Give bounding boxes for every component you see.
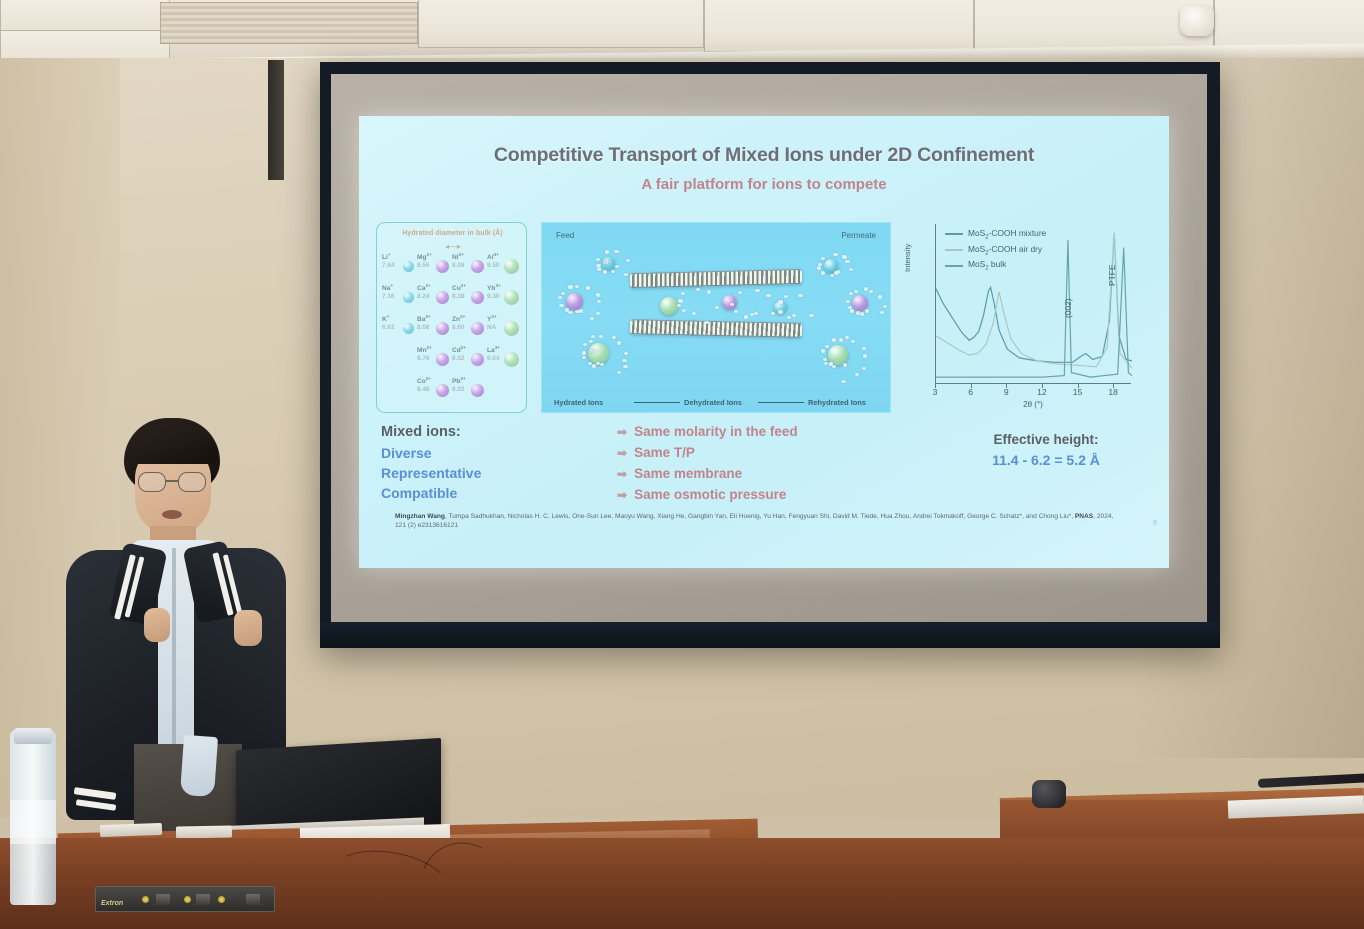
citation: Mingzhan Wang, Tumpa Sadhukhan, Nicholas… — [395, 512, 1115, 531]
extron-button[interactable] — [196, 894, 210, 905]
ion-symbol: Ba2+ — [417, 314, 431, 323]
legend-color-swatch — [945, 233, 963, 235]
xrd-annotation-ptfe: PTFE — [1107, 265, 1117, 286]
ion-symbol: Co2+ — [417, 376, 431, 385]
ion-cell-ba: Ba2+8.08 — [417, 313, 451, 343]
bullet-label: Same T/P — [634, 445, 695, 460]
water-molecule — [575, 310, 579, 313]
water-molecule — [596, 258, 600, 261]
feed-ion-green: M³⁺ — [588, 343, 609, 364]
legend-label: MoS2-COOH air dry — [968, 244, 1042, 257]
extron-led-indicator — [142, 896, 149, 903]
x-tick-label: 18 — [1108, 387, 1118, 397]
ion-symbol: Mg2+ — [417, 252, 432, 261]
glasses-bridge — [166, 480, 178, 482]
bullet-label: Same membrane — [634, 466, 742, 481]
ion-cell-ca: Ca2+8.24 — [417, 282, 451, 312]
water-molecule — [568, 285, 572, 288]
smoke-detector-icon — [1180, 6, 1214, 36]
water-molecule — [841, 380, 845, 383]
legend-label: MoS2 bulk — [968, 259, 1006, 272]
ion-diameter-value: 8.24 — [417, 293, 429, 300]
water-molecule — [821, 271, 825, 274]
presenter-right-hand — [234, 610, 262, 646]
ion-sphere-icon — [471, 260, 484, 273]
ion-diameter-value: 8.38 — [452, 293, 464, 300]
water-molecule — [626, 259, 630, 262]
ion-cell-ni: Ni2+8.08 — [452, 251, 486, 281]
ceiling-air-vent — [160, 2, 418, 44]
ion-symbol: Zn2+ — [452, 314, 465, 323]
ion-symbol: Al3+ — [487, 252, 499, 261]
water-molecule — [597, 267, 601, 270]
water-molecule — [850, 309, 854, 312]
water-molecule — [849, 268, 853, 271]
ion-cell-k: K+6.62 — [382, 313, 416, 343]
water-bottle-cap — [14, 728, 52, 744]
ion-sphere-icon — [436, 384, 449, 397]
ion-sphere-icon — [436, 291, 449, 304]
water-molecule — [821, 349, 825, 352]
water-molecule — [878, 295, 882, 298]
ion-diameter-value: 9.50 — [487, 262, 499, 269]
water-molecule — [755, 289, 759, 292]
water-molecule — [592, 364, 596, 367]
ion-diameter-value: 8.52 — [452, 355, 464, 362]
ion-sphere-icon — [436, 353, 449, 366]
transport-schematic: Feed Permeate M⁺ M³⁺ Hydrated Ions Dehyd… — [541, 222, 891, 413]
mixed-ions-item-diverse: Diverse — [381, 445, 432, 461]
ion-diameter-value: 9.04 — [487, 355, 499, 362]
ion-symbol: La3+ — [487, 345, 500, 354]
water-molecule — [611, 270, 615, 273]
ion-panel-title: Hydrated diameter in bulk (Å) — [377, 230, 528, 237]
water-molecule — [845, 336, 849, 339]
ion-diameter-value: 8.60 — [452, 324, 464, 331]
lecture-room-scene: Competitive Transport of Mixed Ions unde… — [0, 0, 1364, 929]
water-molecule — [596, 264, 600, 267]
ion-row: Na+7.16Ca2+8.24Cu2+8.38Yb3+9.30 — [382, 282, 523, 312]
ion-sphere-icon — [504, 352, 519, 367]
slide-title: Competitive Transport of Mixed Ions unde… — [359, 144, 1169, 167]
water-molecule — [754, 312, 758, 315]
water-molecule — [823, 358, 827, 361]
ceiling-tile — [704, 0, 974, 52]
membrane-top-layer — [630, 269, 802, 288]
water-bottle-label — [10, 800, 56, 844]
water-molecule — [583, 343, 587, 346]
water-molecule — [617, 371, 621, 374]
presenter-mouth — [162, 510, 182, 519]
extron-av-controller[interactable]: Extron — [95, 886, 275, 912]
water-molecule — [856, 311, 860, 314]
water-molecule — [787, 316, 791, 319]
water-molecule — [784, 295, 788, 298]
water-molecule — [677, 304, 681, 307]
ion-cell-co: Co2+8.48 — [417, 375, 451, 405]
x-tick-label: 6 — [968, 387, 973, 397]
ion-symbol: Cu2+ — [452, 283, 466, 292]
extron-button[interactable] — [246, 894, 260, 905]
ion-cell-cu: Cu2+8.38 — [452, 282, 486, 312]
ion-row: Mn2+8.76Cd2+8.52La3+9.04 — [382, 344, 523, 374]
size-arrow-icon: ◂—▸ — [432, 243, 474, 251]
bullet-label: Same osmotic pressure — [634, 487, 786, 502]
mixed-ions-item-compatible: Compatible — [381, 485, 457, 501]
water-molecule — [617, 341, 621, 344]
bullet-item-molarity: ➡Same molarity in the feed — [617, 424, 798, 439]
water-molecule — [612, 336, 616, 339]
ion-tag: M³⁺ — [590, 349, 598, 355]
water-molecule — [589, 340, 593, 343]
ion-cell-mn: Mn2+8.76 — [417, 344, 451, 374]
ion-symbol: Cd2+ — [452, 345, 466, 354]
x-tick-label: 3 — [933, 387, 938, 397]
ion-symbol: Pb2+ — [452, 376, 466, 385]
ion-sphere-icon — [504, 259, 519, 274]
wall-pillar — [268, 60, 284, 180]
ion-sphere-icon — [403, 292, 414, 303]
ion-cell-y: Y3+NA — [487, 313, 521, 343]
legend-label: MoS2-COOH mixture — [968, 228, 1046, 241]
water-molecule — [750, 313, 754, 316]
presentation-slide: Competitive Transport of Mixed Ions unde… — [359, 116, 1169, 568]
water-molecule — [692, 312, 696, 315]
water-molecule — [599, 335, 603, 338]
water-molecule — [568, 311, 572, 314]
water-molecule — [817, 266, 821, 269]
bullet-arrow-icon: ➡ — [617, 425, 627, 439]
water-molecule — [603, 270, 607, 273]
ion-symbol: Na+ — [382, 283, 393, 292]
water-molecule — [825, 345, 829, 348]
ion-diameter-value: NA — [487, 324, 496, 331]
table-microphone — [1032, 780, 1066, 808]
ion-sphere-icon — [504, 321, 519, 336]
water-molecule — [855, 373, 859, 376]
xrd-annotation-002: (002) — [1063, 298, 1073, 318]
ion-symbol: Mn2+ — [417, 345, 432, 354]
ion-sphere-icon — [471, 384, 484, 397]
water-molecule — [851, 340, 855, 343]
xrd-x-axis-label: 2θ (°) — [935, 400, 1131, 409]
water-molecule — [846, 300, 850, 303]
x-tick-label: 15 — [1073, 387, 1083, 397]
ion-symbol: K+ — [382, 314, 389, 323]
extron-led-indicator — [184, 896, 191, 903]
ion-cell-al: Al3+9.50 — [487, 251, 521, 281]
presenter-hair-front — [128, 432, 218, 464]
ion-cell-li: Li+7.64 — [382, 251, 416, 281]
water-molecule — [586, 286, 590, 289]
ceiling-tile — [0, 0, 170, 32]
water-molecule — [834, 271, 838, 274]
ion-sphere-icon — [471, 291, 484, 304]
dehydrated-ion-purple — [722, 295, 737, 310]
water-molecule — [590, 317, 594, 320]
water-molecule — [579, 309, 583, 312]
ion-diameter-value: 8.08 — [452, 262, 464, 269]
effective-height-value: 11.4 - 6.2 = 5.2 Å — [956, 452, 1136, 468]
water-molecule — [597, 300, 601, 303]
water-molecule — [596, 312, 600, 315]
x-tick-label: 12 — [1037, 387, 1047, 397]
x-tick-label: 9 — [1004, 387, 1009, 397]
water-molecule — [818, 263, 822, 266]
ion-sphere-icon — [436, 322, 449, 335]
water-molecule — [864, 287, 868, 290]
ion-cell-na: Na+7.16 — [382, 282, 416, 312]
ion-symbol: Ni2+ — [452, 252, 464, 261]
slide-subtitle: A fair platform for ions to compete — [359, 176, 1169, 193]
shirt-tail — [180, 735, 218, 797]
water-molecule — [559, 304, 563, 307]
water-molecule — [734, 310, 738, 313]
water-molecule — [558, 296, 562, 299]
hydrated-ions-label: Hydrated Ions — [554, 398, 603, 407]
ion-cell-la: La3+9.04 — [487, 344, 521, 374]
water-molecule — [738, 291, 742, 294]
ion-diameter-value: 8.08 — [417, 324, 429, 331]
water-molecule — [591, 335, 595, 338]
extron-button[interactable] — [156, 894, 170, 905]
mixed-ions-item-representative: Representative — [381, 465, 481, 481]
bullet-item-tp: ➡Same T/P — [617, 445, 695, 460]
ion-diameter-value: 8.48 — [417, 386, 429, 393]
legend-color-swatch — [945, 249, 963, 251]
water-molecule — [839, 338, 843, 341]
water-molecule — [614, 250, 618, 253]
ion-diameter-value: 8.02 — [452, 386, 464, 393]
mixed-ions-heading: Mixed ions: — [381, 424, 461, 440]
glasses-left-lens — [138, 472, 166, 492]
water-molecule — [624, 352, 628, 355]
water-molecule — [622, 359, 626, 362]
water-molecule — [778, 310, 782, 313]
ion-tag: M⁺ — [604, 260, 611, 266]
water-molecule — [862, 347, 866, 350]
water-molecule — [809, 314, 813, 317]
feed-ion-blue: M⁺ — [602, 257, 615, 270]
water-molecule — [830, 274, 834, 277]
ion-cell-yb: Yb3+9.30 — [487, 282, 521, 312]
water-molecule — [829, 362, 833, 365]
ion-sphere-icon — [403, 323, 414, 334]
water-molecule — [843, 363, 847, 366]
water-molecule — [681, 292, 685, 295]
dehydrated-ion-green — [660, 297, 678, 315]
desk-remote-clicker — [176, 826, 232, 839]
water-molecule — [678, 299, 682, 302]
schematic-connector-line — [634, 402, 680, 403]
ion-sphere-icon — [471, 353, 484, 366]
projection-screen-bottom-bar — [320, 622, 1220, 648]
water-molecule — [832, 338, 836, 341]
ion-cell-mg: Mg2+8.56 — [417, 251, 451, 281]
extron-led-indicator — [218, 896, 225, 903]
bullet-arrow-icon: ➡ — [617, 488, 627, 502]
water-molecule — [696, 288, 700, 291]
ion-row: Co2+8.48Pb2+8.02 — [382, 375, 523, 405]
hydrated-diameter-panel: Hydrated diameter in bulk (Å) ◂—▸ Li+7.6… — [376, 222, 527, 413]
rehydrated-ions-label: Rehydrated Ions — [808, 398, 866, 407]
water-molecule — [880, 311, 884, 314]
water-molecule — [766, 294, 770, 297]
glasses-right-lens — [178, 472, 206, 492]
ion-diameter-value: 7.16 — [382, 293, 394, 300]
water-molecule — [792, 314, 796, 317]
water-molecule — [833, 253, 837, 256]
water-molecule — [624, 273, 628, 276]
water-molecule — [707, 290, 711, 293]
water-molecule — [863, 354, 867, 357]
xrd-chart: Intensity MoS2-COOH mixtureMoS2-COOH air… — [905, 222, 1133, 413]
feed-label: Feed — [556, 231, 574, 240]
ion-cell-zn: Zn2+8.60 — [452, 313, 486, 343]
ion-cell-cd: Cd2+8.52 — [452, 344, 486, 374]
water-molecule — [744, 315, 748, 318]
ion-diameter-value: 6.62 — [382, 324, 394, 331]
water-molecule — [865, 309, 869, 312]
ion-sphere-icon — [403, 261, 414, 272]
schematic-connector-line — [758, 402, 804, 403]
water-molecule — [575, 285, 579, 288]
ion-sphere-icon — [436, 260, 449, 273]
water-molecule — [860, 312, 864, 315]
desk-small-item — [100, 823, 162, 837]
ion-sphere-icon — [504, 290, 519, 305]
water-molecule — [869, 290, 873, 293]
ion-grid: Li+7.64Mg2+8.56Ni2+8.08Al3+9.50Na+7.16Ca… — [382, 251, 523, 409]
water-molecule — [778, 300, 782, 303]
water-molecule — [854, 290, 858, 293]
ceiling-tile — [418, 0, 704, 48]
ion-symbol: Y3+ — [487, 314, 497, 323]
ion-sphere-icon — [471, 322, 484, 335]
water-molecule — [582, 356, 586, 359]
water-molecule — [798, 294, 802, 297]
water-molecule — [600, 363, 604, 366]
citation-authors: , Tumpa Sadhukhan, Nicholas H. C. Lewis,… — [445, 513, 1075, 520]
ion-symbol: Yb3+ — [487, 283, 501, 292]
ion-row: Li+7.64Mg2+8.56Ni2+8.08Al3+9.50 — [382, 251, 523, 281]
ion-symbol: Li+ — [382, 252, 391, 261]
water-molecule — [862, 367, 866, 370]
ion-row: K+6.62Ba2+8.08Zn2+8.60Y3+NA — [382, 313, 523, 343]
water-molecule — [623, 365, 627, 368]
xrd-legend-item: MoS2-COOH mixture — [945, 228, 1046, 241]
water-molecule — [832, 365, 836, 368]
bullet-item-membrane: ➡Same membrane — [617, 466, 742, 481]
membrane-bottom-layer — [630, 319, 802, 338]
ion-cell-pb: Pb2+8.02 — [452, 375, 486, 405]
water-molecule — [883, 305, 887, 308]
bullet-arrow-icon: ➡ — [617, 467, 627, 481]
bullet-label: Same molarity in the feed — [634, 424, 798, 439]
xrd-legend: MoS2-COOH mixtureMoS2-COOH air dryMoS2 b… — [945, 228, 1046, 275]
legend-color-swatch — [945, 265, 963, 267]
shirt-placket — [172, 548, 176, 744]
water-molecule — [605, 250, 609, 253]
ion-diameter-value: 7.64 — [382, 262, 394, 269]
water-molecule — [596, 293, 600, 296]
ion-symbol: Ca2+ — [417, 283, 431, 292]
feed-ion-purple — [566, 293, 583, 310]
dehydrated-ions-label: Dehydrated Ions — [684, 398, 742, 407]
water-molecule — [561, 292, 565, 295]
slide-number: 8 — [1153, 520, 1157, 527]
water-molecule — [842, 255, 846, 258]
xrd-legend-item: MoS2 bulk — [945, 259, 1046, 272]
xrd-y-axis-label: Intensity — [903, 244, 912, 272]
water-molecule — [615, 265, 619, 268]
citation-journal: PNAS — [1075, 513, 1093, 520]
water-molecule — [682, 309, 686, 312]
water-molecule — [715, 306, 719, 309]
citation-lead-author: Mingzhan Wang — [395, 513, 445, 520]
water-molecule — [821, 257, 825, 260]
xrd-legend-item: MoS2-COOH air dry — [945, 244, 1046, 257]
ion-diameter-value: 8.56 — [417, 262, 429, 269]
ion-diameter-value: 8.76 — [417, 355, 429, 362]
permeate-label: Permeate — [841, 231, 876, 240]
water-molecule — [771, 312, 775, 315]
ion-diameter-value: 9.30 — [487, 293, 499, 300]
water-molecule — [582, 351, 586, 354]
effective-height-label: Effective height: — [956, 432, 1136, 447]
water-molecule — [845, 260, 849, 263]
water-molecule — [849, 292, 853, 295]
bullet-arrow-icon: ➡ — [617, 446, 627, 460]
presenter-left-hand — [144, 608, 170, 642]
podium-desk-front — [0, 838, 1364, 929]
extron-brand-label: Extron — [101, 900, 123, 907]
bullet-item-osmotic: ➡Same osmotic pressure — [617, 487, 786, 502]
water-molecule — [824, 362, 828, 365]
